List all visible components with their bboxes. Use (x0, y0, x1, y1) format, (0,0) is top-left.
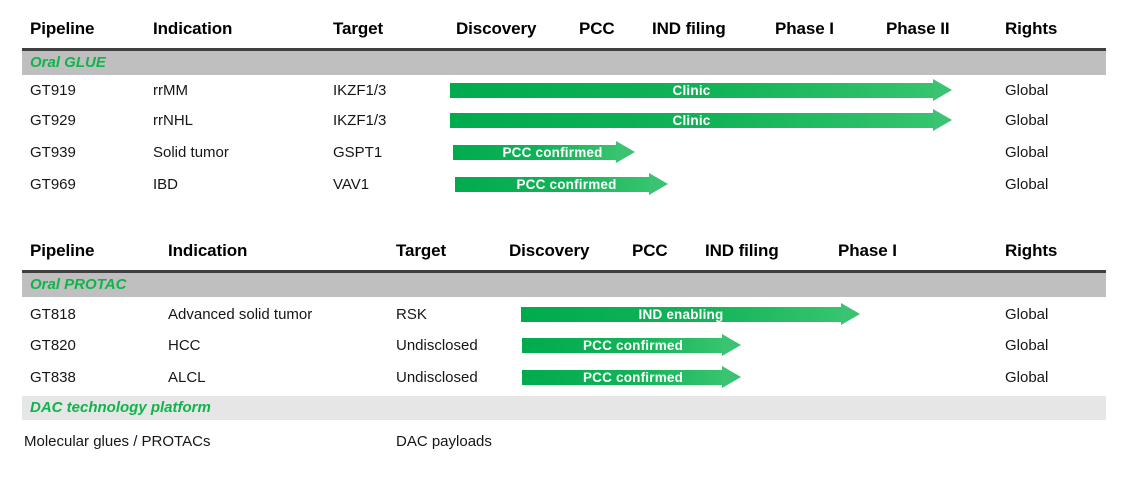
table-row: GT820 HCC Undisclosed PCC confirmed Glob… (22, 332, 1106, 362)
section-band-oral-protac: Oral PROTAC (22, 273, 1106, 297)
progress-bar-clinic: Clinic (450, 113, 952, 128)
column-header-target: Target (333, 18, 383, 40)
cell-rights: Global (1005, 368, 1048, 388)
cell-pipeline: GT820 (30, 336, 76, 356)
column-header-phase-1: Phase I (775, 18, 834, 40)
cell-target: RSK (396, 305, 427, 325)
bar-arrowhead-icon (933, 109, 952, 131)
bar-arrowhead-icon (722, 366, 741, 388)
table-row: GT919 rrMM IKZF1/3 Clinic Global (22, 77, 1106, 107)
cell-rights: Global (1005, 81, 1048, 101)
progress-bar-pcc-confirmed: PCC confirmed (453, 145, 635, 160)
bar-arrowhead-icon (722, 334, 741, 356)
cell-rights: Global (1005, 143, 1048, 163)
progress-bar-pcc-confirmed: PCC confirmed (522, 370, 741, 385)
bar-label: Clinic (450, 83, 933, 98)
cell-pipeline: GT929 (30, 111, 76, 131)
cell-rights: Global (1005, 305, 1048, 325)
table-row: GT818 Advanced solid tumor RSK IND enabl… (22, 301, 1106, 331)
platform-items-row: Molecular glues / PROTACs DAC payloads (22, 428, 1106, 454)
cell-target: IKZF1/3 (333, 111, 386, 131)
table-row: GT838 ALCL Undisclosed PCC confirmed Glo… (22, 364, 1106, 394)
column-header-pipeline: Pipeline (30, 240, 94, 262)
bar-label: PCC confirmed (480, 177, 653, 192)
section-band-dac-platform: DAC technology platform (22, 396, 1106, 420)
table1-header-row: Pipeline Indication Target Discovery PCC… (22, 18, 1106, 48)
column-header-indication: Indication (153, 18, 232, 40)
platform-item-left: Molecular glues / PROTACs (24, 432, 210, 452)
platform-item-right: DAC payloads (396, 432, 492, 452)
cell-rights: Global (1005, 175, 1048, 195)
table-row: GT939 Solid tumor GSPT1 PCC confirmed Gl… (22, 139, 1106, 169)
table2-header-row: Pipeline Indication Target Discovery PCC… (22, 240, 1106, 270)
cell-indication: Solid tumor (153, 143, 229, 163)
progress-bar-pcc-confirmed: PCC confirmed (522, 338, 741, 353)
section-label-dac-platform: DAC technology platform (30, 399, 211, 416)
cell-target: Undisclosed (396, 368, 478, 388)
progress-bar-pcc-confirmed: PCC confirmed (455, 177, 668, 192)
bar-label: PCC confirmed (471, 145, 634, 160)
cell-target: IKZF1/3 (333, 81, 386, 101)
column-header-pcc: PCC (632, 240, 668, 262)
bar-label: IND enabling (521, 307, 841, 322)
progress-bar-ind-enabling: IND enabling (521, 307, 860, 322)
column-header-indication: Indication (168, 240, 247, 262)
cell-target: GSPT1 (333, 143, 382, 163)
cell-target: VAV1 (333, 175, 369, 195)
cell-pipeline: GT838 (30, 368, 76, 388)
cell-pipeline: GT939 (30, 143, 76, 163)
bar-label: Clinic (450, 113, 933, 128)
table-row: GT969 IBD VAV1 PCC confirmed Global (22, 171, 1106, 201)
progress-bar-clinic: Clinic (450, 83, 952, 98)
cell-target: Undisclosed (396, 336, 478, 356)
column-header-rights: Rights (1005, 18, 1057, 40)
column-header-discovery: Discovery (509, 240, 589, 262)
cell-rights: Global (1005, 336, 1048, 356)
cell-pipeline: GT818 (30, 305, 76, 325)
section-label-oral-protac: Oral PROTAC (30, 276, 126, 293)
bar-label: PCC confirmed (544, 370, 722, 385)
column-header-rights: Rights (1005, 240, 1057, 262)
section-band-oral-glue: Oral GLUE (22, 51, 1106, 75)
cell-indication: IBD (153, 175, 178, 195)
cell-indication: rrNHL (153, 111, 193, 131)
pipeline-table-oral-protac: Pipeline Indication Target Discovery PCC… (22, 240, 1106, 270)
pipeline-table-oral-glue: Pipeline Indication Target Discovery PCC… (22, 18, 1106, 48)
column-header-phase-2: Phase II (886, 18, 949, 40)
cell-indication: ALCL (168, 368, 206, 388)
column-header-target: Target (396, 240, 446, 262)
pipeline-chart: Pipeline Indication Target Discovery PCC… (0, 0, 1128, 483)
cell-pipeline: GT919 (30, 81, 76, 101)
cell-rights: Global (1005, 111, 1048, 131)
column-header-pcc: PCC (579, 18, 615, 40)
section-label-oral-glue: Oral GLUE (30, 54, 106, 71)
table-row: GT929 rrNHL IKZF1/3 Clinic Global (22, 107, 1106, 137)
bar-arrowhead-icon (841, 303, 860, 325)
column-header-phase-1: Phase I (838, 240, 897, 262)
bar-arrowhead-icon (933, 79, 952, 101)
cell-indication: rrMM (153, 81, 188, 101)
cell-indication: HCC (168, 336, 201, 356)
cell-pipeline: GT969 (30, 175, 76, 195)
column-header-ind-filing: IND filing (652, 18, 726, 40)
bar-label: PCC confirmed (544, 338, 722, 353)
column-header-ind-filing: IND filing (705, 240, 779, 262)
cell-indication: Advanced solid tumor (168, 305, 312, 325)
column-header-pipeline: Pipeline (30, 18, 94, 40)
column-header-discovery: Discovery (456, 18, 536, 40)
